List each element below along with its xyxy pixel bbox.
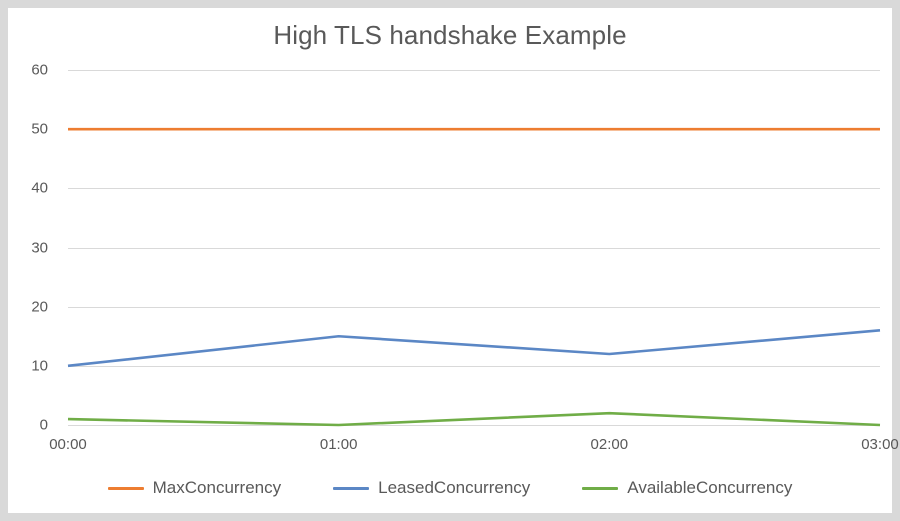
- line-swatch-icon: [333, 487, 369, 490]
- x-axis-tick-label: 02:00: [549, 436, 669, 453]
- x-axis-tick-label: 01:00: [279, 436, 399, 453]
- plot-area[interactable]: 6050403020100 00:0001:0002:0003:00: [68, 70, 880, 425]
- legend-item-label: MaxConcurrency: [153, 478, 282, 498]
- y-axis-tick-label: 0: [4, 417, 48, 434]
- y-axis-tick-label: 50: [4, 121, 48, 138]
- series-line: [68, 413, 880, 425]
- series-line: [68, 330, 880, 366]
- chart-frame: High TLS handshake Example 6050403020100…: [0, 0, 900, 521]
- x-axis-tick-label: 00:00: [8, 436, 128, 453]
- y-axis-tick-label: 10: [4, 357, 48, 374]
- gridline: [68, 425, 880, 426]
- y-axis-tick-label: 40: [4, 180, 48, 197]
- x-axis-tick-label: 03:00: [820, 436, 900, 453]
- legend-item[interactable]: MaxConcurrency: [108, 478, 282, 498]
- legend-item-label: LeasedConcurrency: [378, 478, 530, 498]
- chart-legend[interactable]: MaxConcurrencyLeasedConcurrencyAvailable…: [8, 478, 892, 498]
- legend-item-label: AvailableConcurrency: [627, 478, 792, 498]
- line-swatch-icon: [108, 487, 144, 490]
- y-axis-tick-label: 20: [4, 298, 48, 315]
- y-axis-tick-label: 60: [4, 62, 48, 79]
- y-axis-tick-label: 30: [4, 239, 48, 256]
- chart-canvas[interactable]: High TLS handshake Example 6050403020100…: [8, 8, 892, 513]
- line-swatch-icon: [582, 487, 618, 490]
- legend-item[interactable]: LeasedConcurrency: [333, 478, 530, 498]
- series-lines: [68, 70, 880, 425]
- chart-title: High TLS handshake Example: [8, 20, 892, 51]
- legend-item[interactable]: AvailableConcurrency: [582, 478, 792, 498]
